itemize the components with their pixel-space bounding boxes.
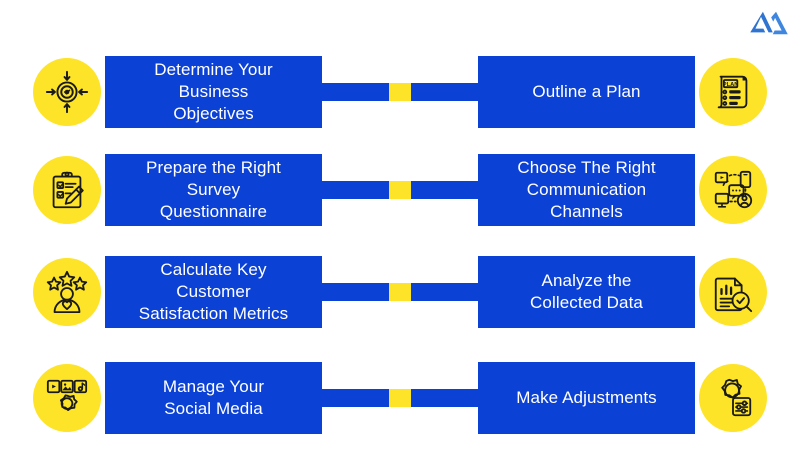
process-row-3: Calculate Key Customer Satisfaction Metr…: [0, 256, 800, 328]
gear-settings-sliders-icon: [699, 364, 767, 432]
process-row-2: Prepare the Right Survey Questionnaire C…: [0, 154, 800, 226]
step-panel-outline-plan[interactable]: Outline a Plan: [478, 56, 695, 128]
connector-knob: [389, 389, 411, 407]
step-panel-prepare-survey[interactable]: Prepare the Right Survey Questionnaire: [105, 154, 322, 226]
target-objectives-icon: [33, 58, 101, 126]
mountain-peak-logo: [750, 8, 788, 38]
step-label: Prepare the Right Survey Questionnaire: [146, 157, 281, 223]
step-label: Analyze the Collected Data: [530, 270, 643, 314]
row-connector: [322, 83, 478, 101]
clipboard-checklist-pencil-icon: [33, 156, 101, 224]
step-panel-communication-channels[interactable]: Choose The Right Communication Channels: [478, 154, 695, 226]
step-panel-make-adjustments[interactable]: Make Adjustments: [478, 362, 695, 434]
step-label: Make Adjustments: [516, 387, 657, 409]
connector-knob: [389, 181, 411, 199]
step-panel-determine-objectives[interactable]: Determine Your Business Objectives: [105, 56, 322, 128]
plan-document-icon: PLAN: [699, 58, 767, 126]
step-panel-manage-social-media[interactable]: Manage Your Social Media: [105, 362, 322, 434]
row-connector: [322, 389, 478, 407]
social-media-gear-icon: [33, 364, 101, 432]
process-row-4: Manage Your Social Media Make Adjustment…: [0, 362, 800, 434]
step-label: Calculate Key Customer Satisfaction Metr…: [139, 259, 288, 325]
step-panel-analyze-data[interactable]: Analyze the Collected Data: [478, 256, 695, 328]
process-row-1: Determine Your Business Objectives Outli…: [0, 56, 800, 128]
step-panel-calculate-metrics[interactable]: Calculate Key Customer Satisfaction Metr…: [105, 256, 322, 328]
row-connector: [322, 283, 478, 301]
step-label: Choose The Right Communication Channels: [517, 157, 655, 223]
step-label: Manage Your Social Media: [163, 376, 264, 420]
connector-knob: [389, 283, 411, 301]
svg-text:PLAN: PLAN: [723, 82, 739, 88]
step-label: Outline a Plan: [532, 81, 640, 103]
infographic-canvas: Determine Your Business Objectives Outli…: [0, 0, 800, 450]
customer-rating-stars-icon: [33, 258, 101, 326]
row-connector: [322, 181, 478, 199]
data-report-magnifier-icon: [699, 258, 767, 326]
connector-knob: [389, 83, 411, 101]
step-label: Determine Your Business Objectives: [154, 59, 273, 125]
communication-channels-icon: [699, 156, 767, 224]
